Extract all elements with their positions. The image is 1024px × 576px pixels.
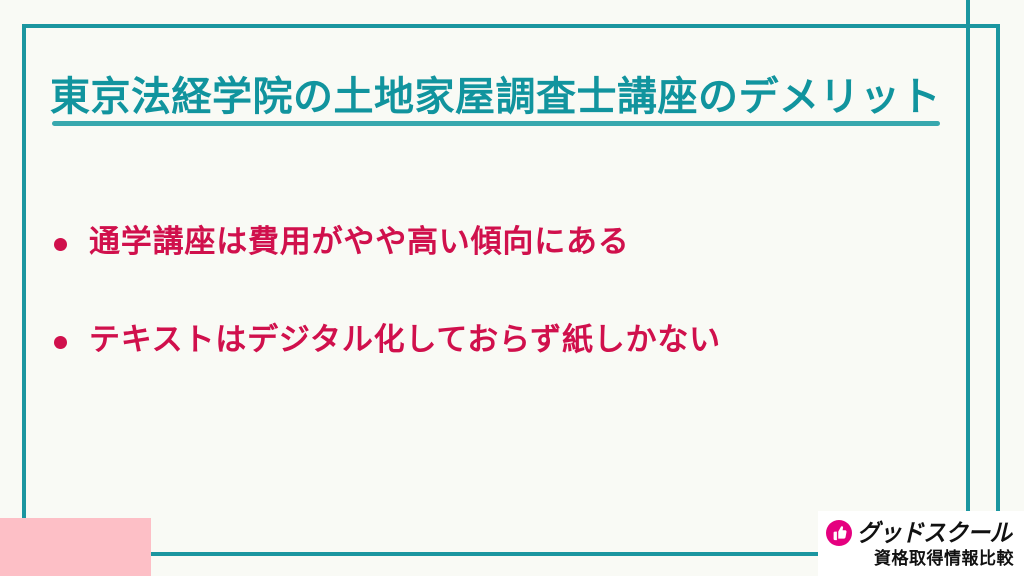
bullet-list: 通学講座は費用がやや高い傾向にある テキストはデジタル化しておらず紙しかない [54,222,954,419]
bullet-text: 通学講座は費用がやや高い傾向にある [89,222,630,262]
title-underline-rule [52,121,940,126]
brand-tagline: 資格取得情報比較 [826,551,1018,568]
page-title: 東京法経学院の土地家屋調査士講座のデメリット [50,74,950,121]
list-item: 通学講座は費用がやや高い傾向にある [54,222,954,262]
frame-accent-vertical-line [966,0,970,576]
frame-border-left [22,24,26,520]
bullet-text: テキストはデジタル化しておらず紙しかない [89,320,721,360]
frame-border-right [996,24,1000,576]
bullet-dot-icon [54,238,67,251]
slide-canvas: 東京法経学院の土地家屋調査士講座のデメリット 通学講座は費用がやや高い傾向にある… [0,0,1024,576]
brand-wordmark: グッドスクール [857,521,1012,545]
thumbs-up-icon [826,520,852,546]
decorative-pink-block [0,518,151,576]
list-item: テキストはデジタル化しておらず紙しかない [54,320,954,360]
frame-border-top [22,24,1000,28]
bullet-dot-icon [54,336,67,349]
brand-logo-row: グッドスクール [826,520,1018,546]
brand-logo: グッドスクール 資格取得情報比較 [818,511,1024,576]
